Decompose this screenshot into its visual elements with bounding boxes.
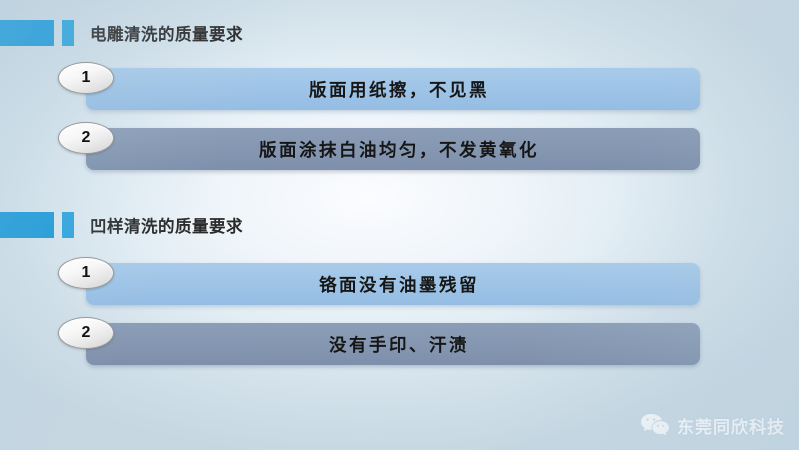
watermark: 东莞同欣科技 xyxy=(640,412,785,438)
content-bar-text: 铬面没有油墨残留 xyxy=(319,272,479,297)
item-number-badge-2-1: 1 xyxy=(58,257,114,289)
content-bar-text: 没有手印、汗渍 xyxy=(329,332,469,357)
content-bar-1-2: 版面涂抹白油均匀，不发黄氧化 xyxy=(86,128,700,170)
item-number-label: 1 xyxy=(82,70,91,86)
blue-bar-marker-icon xyxy=(62,20,74,46)
item-number-label: 1 xyxy=(82,265,91,281)
section-header-1: 电雕清洗的质量要求 xyxy=(0,18,243,48)
section-title-1: 电雕清洗的质量要求 xyxy=(90,21,243,45)
blue-square-marker-icon xyxy=(0,212,54,238)
presentation-slide: 电雕清洗的质量要求 版面用纸擦，不见黑 1 版面涂抹白油均匀，不发黄氧化 2 凹… xyxy=(0,0,799,450)
content-bar-2-1: 铬面没有油墨残留 xyxy=(86,263,700,305)
blue-square-marker-icon xyxy=(0,20,54,46)
content-bar-1-1: 版面用纸擦，不见黑 xyxy=(86,68,700,110)
item-number-label: 2 xyxy=(82,325,91,341)
content-bar-2-2: 没有手印、汗渍 xyxy=(86,323,700,365)
section-header-2: 凹样清洗的质量要求 xyxy=(0,210,243,240)
item-number-badge-1-1: 1 xyxy=(58,62,114,94)
blue-bar-marker-icon xyxy=(62,212,74,238)
item-number-badge-2-2: 2 xyxy=(58,317,114,349)
item-number-label: 2 xyxy=(82,130,91,146)
wechat-icon xyxy=(640,412,670,438)
section-title-2: 凹样清洗的质量要求 xyxy=(90,213,243,237)
content-bar-text: 版面涂抹白油均匀，不发黄氧化 xyxy=(259,137,539,162)
item-number-badge-1-2: 2 xyxy=(58,122,114,154)
watermark-text: 东莞同欣科技 xyxy=(677,413,785,438)
content-bar-text: 版面用纸擦，不见黑 xyxy=(309,77,489,102)
